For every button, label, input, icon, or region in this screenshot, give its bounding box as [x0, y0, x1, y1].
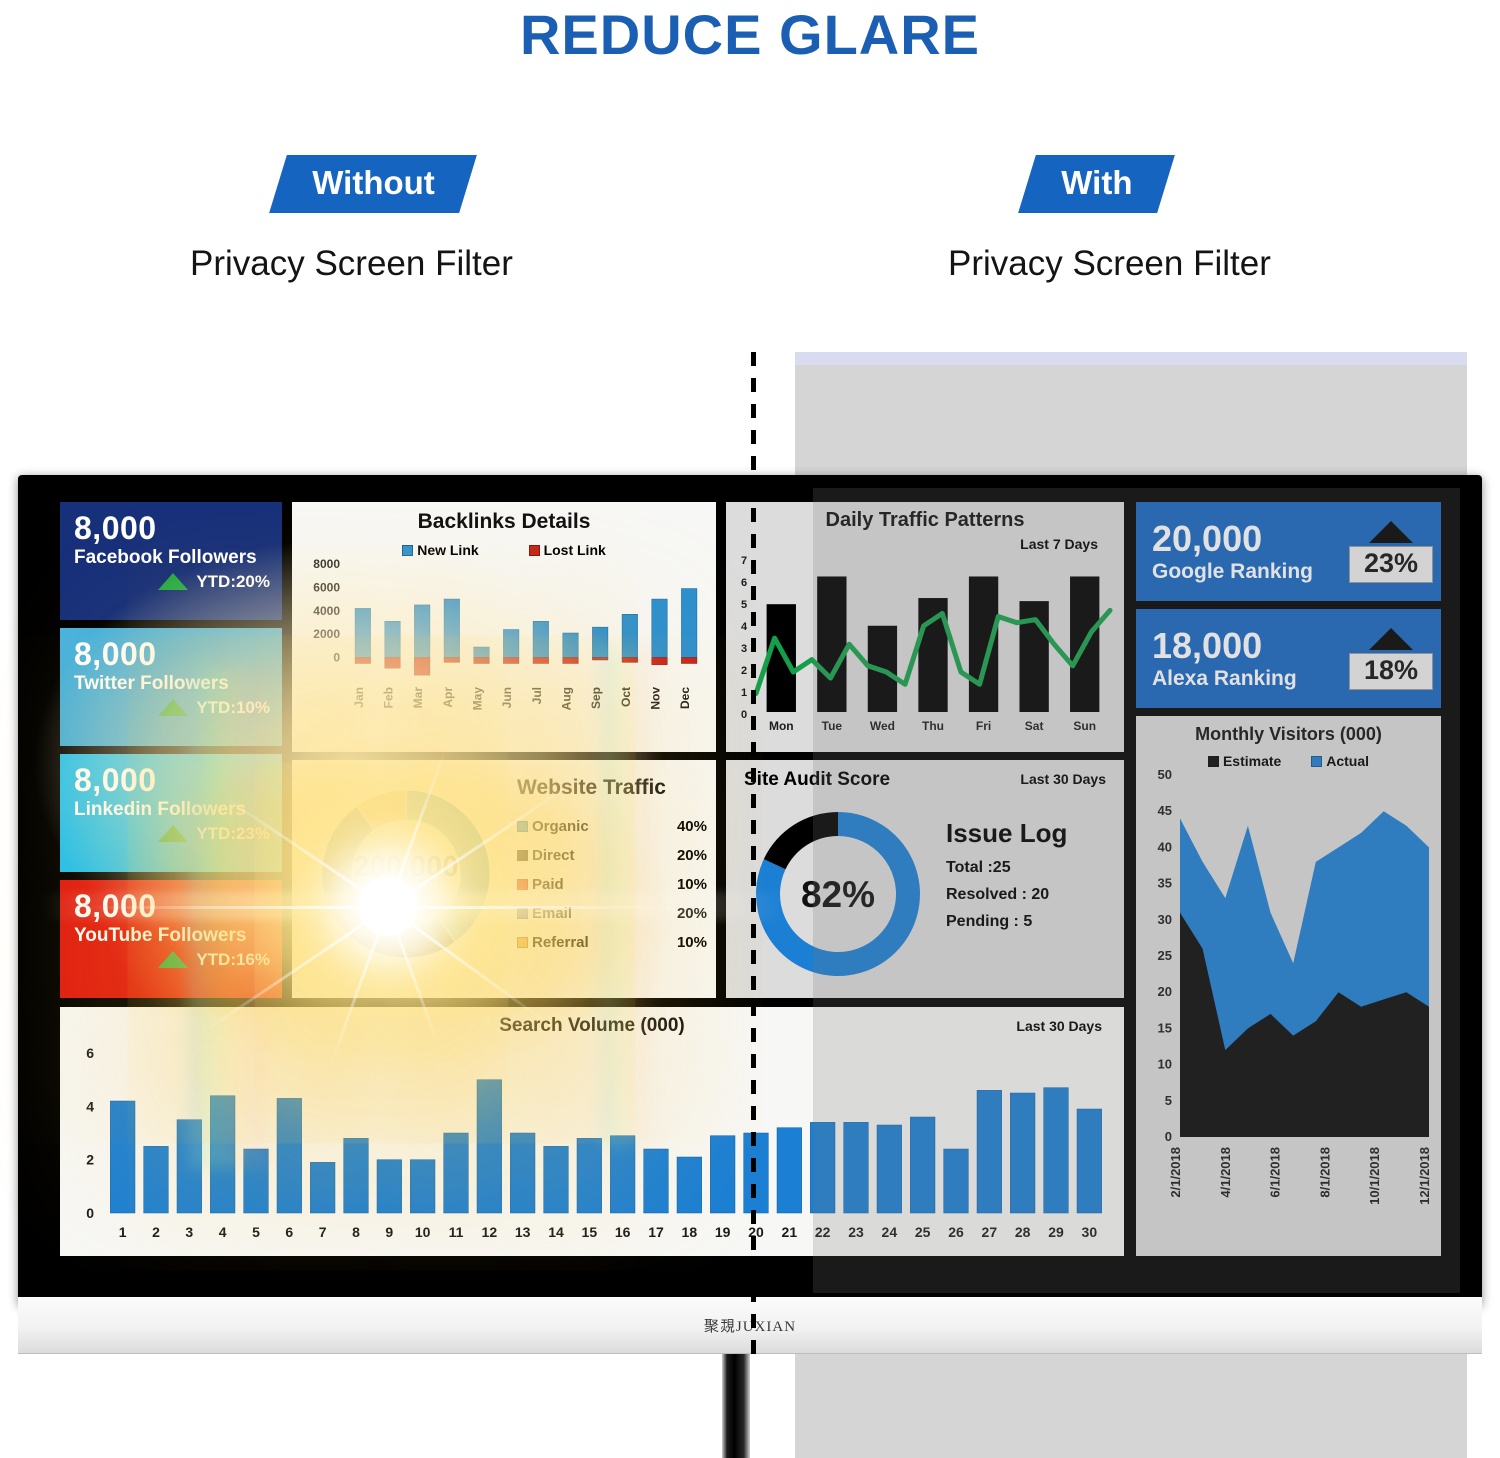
svg-text:15: 15	[582, 1224, 598, 1240]
monthly-visitors-chart: 504540353025201510502/1/20184/1/20186/1/…	[1136, 769, 1441, 1249]
kpi-value: 8,000	[74, 636, 270, 672]
svg-text:30: 30	[1082, 1224, 1098, 1240]
svg-text:0: 0	[333, 651, 340, 665]
product-photo: 8,000 Facebook Followers YTD:20% 8,000 T…	[0, 345, 1500, 1458]
trend-up-icon	[158, 573, 188, 590]
legend-swatch-actual	[1311, 756, 1322, 767]
issue-log-title: Issue Log	[946, 818, 1116, 849]
svg-text:Wed: Wed	[870, 719, 895, 733]
svg-text:Tue: Tue	[822, 719, 843, 733]
legend-swatch	[517, 850, 528, 861]
ranking-card-google: 20,000 Google Ranking 23%	[1136, 502, 1441, 601]
svg-text:45: 45	[1158, 803, 1172, 818]
website-traffic-title: Website Traffic	[517, 776, 707, 800]
without-caption: Privacy Screen Filter	[190, 244, 513, 284]
daily-traffic-subtitle: Last 7 Days	[726, 536, 1124, 552]
ranking-pct: 23%	[1349, 546, 1433, 583]
panel-site-audit: Site Audit Score Last 30 Days 82% Issue …	[726, 760, 1124, 998]
ranking-value: 18,000	[1152, 626, 1349, 666]
backlinks-title: Backlinks Details	[292, 502, 716, 534]
svg-text:4: 4	[741, 621, 748, 633]
svg-text:25: 25	[1158, 948, 1172, 963]
with-badge-label: With	[1061, 164, 1132, 202]
svg-text:8: 8	[352, 1224, 360, 1240]
kpi-card-linkedin: 8,000 Linkedin Followers YTD:23%	[60, 754, 282, 872]
svg-text:25: 25	[915, 1224, 931, 1240]
svg-text:19: 19	[715, 1224, 731, 1240]
without-badge: Without	[278, 155, 468, 213]
svg-text:22: 22	[815, 1224, 831, 1240]
svg-text:4000: 4000	[313, 604, 340, 618]
svg-text:8000: 8000	[313, 558, 340, 571]
svg-text:2/1/2018: 2/1/2018	[1168, 1147, 1183, 1198]
svg-text:May: May	[471, 687, 485, 711]
monitor-screen: 8,000 Facebook Followers YTD:20% 8,000 T…	[40, 488, 1460, 1293]
legend-swatch-new-link	[402, 545, 413, 556]
legend-row: Organic40%	[517, 818, 707, 835]
svg-text:18: 18	[682, 1224, 698, 1240]
brand-name: JUXIAN	[736, 1319, 796, 1335]
comparison-divider	[751, 352, 756, 1357]
svg-text:Nov: Nov	[649, 687, 663, 710]
legend-value: 40%	[677, 818, 707, 835]
svg-text:6/1/2018: 6/1/2018	[1268, 1147, 1283, 1198]
svg-text:Feb: Feb	[382, 687, 396, 708]
legend-label: Referral	[532, 934, 677, 951]
trend-up-icon	[158, 699, 188, 716]
svg-text:Fri: Fri	[976, 719, 991, 733]
monthly-visitors-legend: Estimate Actual	[1136, 753, 1441, 769]
svg-text:17: 17	[648, 1224, 664, 1240]
legend-swatch	[517, 937, 528, 948]
panel-website-traffic: 200,000Visitors Website Traffic Organic4…	[292, 760, 716, 998]
svg-text:1: 1	[741, 687, 747, 699]
legend-swatch-lost-link	[529, 545, 540, 556]
backlinks-chart: 80006000400020000JanFebMarAprMayJunJulAu…	[292, 558, 716, 743]
svg-text:10: 10	[1158, 1057, 1172, 1072]
svg-text:3: 3	[741, 643, 747, 655]
search-volume-subtitle: Last 30 Days	[1016, 1018, 1102, 1034]
svg-text:35: 35	[1158, 876, 1172, 891]
svg-text:7: 7	[741, 555, 747, 567]
with-caption: Privacy Screen Filter	[948, 244, 1271, 284]
ranking-card-alexa: 18,000 Alexa Ranking 18%	[1136, 609, 1441, 708]
without-badge-label: Without	[312, 164, 434, 202]
kpi-card-youtube: 8,000 YouTube Followers YTD:16%	[60, 880, 282, 998]
svg-text:23: 23	[848, 1224, 864, 1240]
svg-text:5: 5	[252, 1224, 260, 1240]
kpi-label: Facebook Followers	[74, 546, 270, 570]
legend-value: 20%	[677, 905, 707, 922]
kpi-card-twitter: 8,000 Twitter Followers YTD:10%	[60, 628, 282, 746]
svg-text:Apr: Apr	[441, 687, 455, 708]
legend-label: Paid	[532, 876, 677, 893]
legend-swatch	[517, 821, 528, 832]
website-traffic-legend: Organic40%Direct20%Paid10%Email20%Referr…	[517, 818, 707, 951]
svg-text:Mon: Mon	[769, 719, 794, 733]
trend-up-icon	[158, 825, 188, 842]
page-title: REDUCE GLARE	[0, 0, 1500, 70]
trend-up-icon	[158, 951, 188, 968]
legend-label-lost-link: Lost Link	[544, 542, 606, 558]
svg-text:6000: 6000	[313, 580, 340, 594]
legend-row: Direct20%	[517, 847, 707, 864]
ranking-label: Google Ranking	[1152, 559, 1349, 585]
legend-swatch	[517, 908, 528, 919]
svg-text:0: 0	[741, 709, 747, 721]
legend-row: Email20%	[517, 905, 707, 922]
trend-up-icon	[1369, 628, 1413, 650]
svg-text:12: 12	[482, 1224, 498, 1240]
svg-text:16: 16	[615, 1224, 631, 1240]
with-badge: With	[1027, 155, 1166, 213]
svg-text:200,000: 200,000	[354, 851, 459, 883]
svg-text:Thu: Thu	[922, 719, 944, 733]
site-audit-title: Site Audit Score	[744, 769, 890, 791]
svg-text:29: 29	[1048, 1224, 1064, 1240]
monitor-stand-neck	[722, 1354, 750, 1458]
svg-text:Mar: Mar	[411, 687, 425, 709]
site-audit-gauge: 82%	[746, 802, 931, 987]
ranking-label: Alexa Ranking	[1152, 666, 1349, 692]
svg-text:4/1/2018: 4/1/2018	[1218, 1147, 1233, 1198]
svg-text:14: 14	[548, 1224, 564, 1240]
svg-text:3: 3	[185, 1224, 193, 1240]
legend-value: 20%	[677, 847, 707, 864]
svg-text:2000: 2000	[313, 627, 340, 641]
site-audit-period: Last 30 Days	[1020, 771, 1106, 787]
svg-text:2: 2	[152, 1224, 160, 1240]
svg-text:4: 4	[219, 1224, 227, 1240]
svg-text:28: 28	[1015, 1224, 1031, 1240]
panel-search-volume: Search Volume (000) Last 30 Days 6420123…	[60, 1007, 1124, 1256]
website-traffic-donut: 200,000Visitors	[306, 774, 506, 984]
kpi-label: YouTube Followers	[74, 924, 270, 948]
legend-swatch	[517, 879, 528, 890]
panel-daily-traffic: Daily Traffic Patterns Last 7 Days MonTu…	[726, 502, 1124, 752]
kpi-label: Twitter Followers	[74, 672, 270, 696]
svg-text:8/1/2018: 8/1/2018	[1317, 1147, 1332, 1198]
svg-text:26: 26	[948, 1224, 964, 1240]
svg-text:Aug: Aug	[560, 687, 574, 710]
svg-text:5: 5	[741, 599, 747, 611]
legend-label: Direct	[532, 847, 677, 864]
legend-value: 10%	[677, 934, 707, 951]
svg-text:6: 6	[86, 1045, 94, 1061]
legend-label-actual: Actual	[1326, 753, 1369, 769]
legend-label: Email	[532, 905, 677, 922]
panel-monthly-visitors: Monthly Visitors (000) Estimate Actual 5…	[1136, 716, 1441, 1256]
svg-text:0: 0	[86, 1205, 94, 1221]
svg-text:13: 13	[515, 1224, 531, 1240]
brand-cjk: 聚覝	[704, 1319, 736, 1335]
legend-value: 10%	[677, 876, 707, 893]
issue-log-pending: Pending : 5	[946, 913, 1116, 931]
svg-text:50: 50	[1158, 769, 1172, 782]
svg-text:Oct: Oct	[619, 687, 633, 707]
daily-traffic-chart: MonTueWedThuFriSatSun76543210	[726, 552, 1124, 742]
kpi-card-facebook: 8,000 Facebook Followers YTD:20%	[60, 502, 282, 620]
svg-text:11: 11	[449, 1224, 464, 1240]
svg-text:10: 10	[415, 1224, 431, 1240]
svg-text:Visitors: Visitors	[377, 887, 436, 904]
kpi-trend: YTD:16%	[196, 950, 270, 969]
kpi-trend: YTD:20%	[196, 572, 270, 591]
svg-text:0: 0	[1165, 1129, 1172, 1144]
svg-text:30: 30	[1158, 912, 1172, 927]
issue-log-total: Total :25	[946, 859, 1116, 877]
svg-text:1: 1	[119, 1224, 127, 1240]
legend-label-estimate: Estimate	[1223, 753, 1281, 769]
svg-text:10/1/2018: 10/1/2018	[1367, 1147, 1382, 1205]
backlinks-legend: New Link Lost Link	[292, 542, 716, 558]
svg-text:82%: 82%	[801, 874, 875, 915]
legend-label: Organic	[532, 818, 677, 835]
monthly-visitors-title: Monthly Visitors (000)	[1136, 716, 1441, 745]
kpi-label: Linkedin Followers	[74, 798, 270, 822]
svg-text:2: 2	[86, 1152, 94, 1168]
svg-text:24: 24	[882, 1224, 898, 1240]
kpi-trend: YTD:10%	[196, 698, 270, 717]
legend-label-new-link: New Link	[417, 542, 478, 558]
svg-text:12/1/2018: 12/1/2018	[1417, 1147, 1432, 1205]
svg-text:2: 2	[741, 665, 747, 677]
svg-text:Dec: Dec	[678, 687, 692, 709]
kpi-value: 8,000	[74, 888, 270, 924]
svg-text:5: 5	[1165, 1093, 1172, 1108]
svg-text:20: 20	[1158, 984, 1172, 999]
svg-text:Jan: Jan	[352, 687, 366, 708]
kpi-value: 8,000	[74, 510, 270, 546]
ranking-value: 20,000	[1152, 519, 1349, 559]
svg-text:6: 6	[285, 1224, 293, 1240]
svg-text:Sun: Sun	[1073, 719, 1096, 733]
ranking-pct: 18%	[1349, 653, 1433, 690]
svg-text:21: 21	[782, 1224, 798, 1240]
legend-row: Paid10%	[517, 876, 707, 893]
trend-up-icon	[1369, 521, 1413, 543]
svg-text:4: 4	[86, 1098, 94, 1114]
monitor-frame: 8,000 Facebook Followers YTD:20% 8,000 T…	[18, 475, 1482, 1305]
kpi-trend: YTD:23%	[196, 824, 270, 843]
kpi-value: 8,000	[74, 762, 270, 798]
svg-text:40: 40	[1158, 839, 1172, 854]
brand-logo: 聚覝JUXIAN	[18, 1315, 1482, 1336]
svg-text:Sat: Sat	[1025, 719, 1044, 733]
search-volume-title: Search Volume (000)	[60, 1015, 1124, 1037]
svg-text:Jul: Jul	[530, 687, 544, 704]
issue-log-resolved: Resolved : 20	[946, 886, 1116, 904]
daily-traffic-title: Daily Traffic Patterns	[726, 502, 1124, 532]
svg-text:6: 6	[741, 577, 747, 589]
legend-row: Referral10%	[517, 934, 707, 951]
svg-text:9: 9	[385, 1224, 393, 1240]
monitor-base-bezel: 聚覝JUXIAN	[18, 1297, 1482, 1354]
svg-text:Sep: Sep	[589, 687, 603, 709]
svg-text:Jun: Jun	[500, 687, 514, 708]
legend-swatch-estimate	[1208, 756, 1219, 767]
svg-text:15: 15	[1158, 1020, 1172, 1035]
search-volume-chart: 6420123456789101112131415161718192021222…	[60, 1043, 1124, 1255]
svg-text:7: 7	[319, 1224, 327, 1240]
panel-backlinks: Backlinks Details New Link Lost Link 800…	[292, 502, 716, 752]
svg-text:27: 27	[982, 1224, 998, 1240]
privacy-filter-top-edge	[795, 352, 1467, 365]
